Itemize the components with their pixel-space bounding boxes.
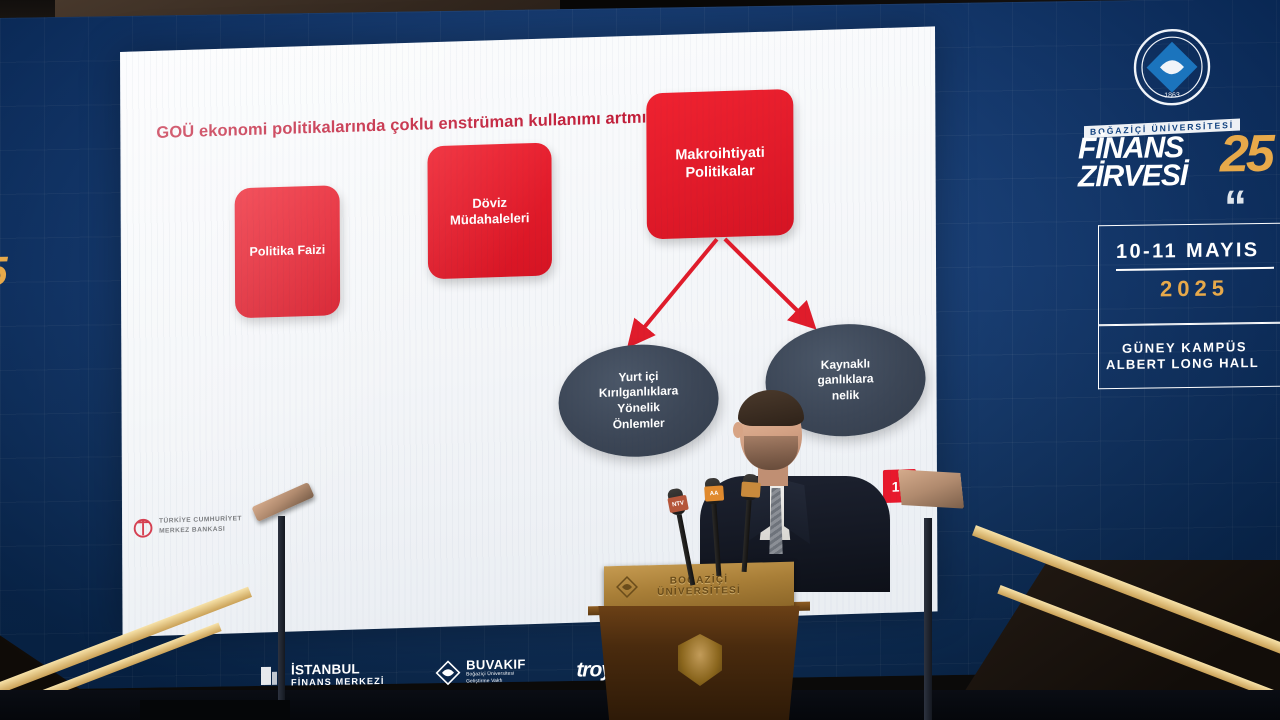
stage-light-left (252, 494, 314, 510)
sponsor2-sub2: Geliştirme Vakfı (466, 678, 526, 686)
banner-right-number: 25 (1220, 131, 1272, 179)
buvakif-mark-icon (435, 660, 461, 686)
slide-oval-2-line2: ganlıklara (817, 372, 873, 388)
banner-right-date-box (1098, 222, 1280, 325)
microphone-3-stem (742, 500, 752, 572)
arrow-to-external (725, 236, 805, 321)
banner-left-number: 25 (0, 248, 6, 296)
slide-oval-1-line2: Kırılganlıklara (599, 384, 678, 400)
ifm-text: İSTANBUL FİNANS MERKEZİ (291, 662, 385, 687)
stage-light-right-head (898, 463, 964, 515)
banner-left-cropped: İVERSİTESİ S 25 ZLİK NDA AL ÜM (0, 149, 60, 511)
seal-year-text: 1863 (1164, 92, 1180, 99)
banner-right-dates: 10-11 MAYIS (1116, 239, 1260, 264)
banner-right-title-line2: ZİRVESİ (1078, 162, 1187, 191)
microphone-3 (739, 474, 757, 573)
conference-stage-scene: İVERSİTESİ S 25 ZLİK NDA AL ÜM 1863 BOĞA… (0, 0, 1280, 720)
banner-right-venue-line1: GÜNEY KAMPÜS (1122, 339, 1247, 356)
microphone-1-stem (677, 514, 696, 586)
microphone-1: NTV (669, 488, 698, 586)
microphone-3-flag (741, 482, 761, 498)
banner-right-event: 1863 BOĞAZİÇİ ÜNİVERSİTESİ FİNANS ZİRVES… (1072, 20, 1280, 423)
stage-light-right-pole (924, 518, 932, 720)
bogazici-seal-icon-right: 1863 (1132, 27, 1212, 108)
microphone-1-flag: NTV (667, 495, 689, 513)
banner-right-venue-line2: ALBERT LONG HALL (1106, 355, 1259, 372)
speaker-ear (733, 422, 743, 438)
arrow-to-domestic (637, 239, 717, 336)
slide-oval-2-line1: Kaynaklı (821, 356, 870, 372)
microphone-2: AA (707, 478, 725, 577)
slide-box-2-label: Döviz Müdahaleleri (450, 194, 530, 228)
slide-box-3-line2: Politikalar (685, 163, 754, 181)
microphone-2-stem (711, 504, 721, 576)
buvakif-text: BUVAKIF Boğaziçi Üniversitesi Geliştirme… (466, 658, 526, 686)
tcmb-logo: TÜRKİYE CUMHURİYET MERKEZ BANKASI (132, 513, 242, 538)
slide-oval-1-line3: Yönelik (617, 400, 660, 415)
slide-box-3-label: Makroihtiyati Politikalar (675, 145, 765, 183)
banner-right-year: 2025 (1160, 275, 1229, 302)
slide-box-3-line1: Makroihtiyati (675, 145, 765, 164)
sponsor-buvakif: BUVAKIF Boğaziçi Üniversitesi Geliştirme… (435, 658, 526, 687)
quote-mark-icon: “ (1224, 193, 1245, 221)
foreground-obstruction (140, 700, 290, 720)
slide-box-2-line1: Döviz (472, 194, 507, 210)
slide-box-macroprudential: Makroihtiyati Politikalar (646, 89, 794, 240)
speaker-hair (738, 390, 804, 426)
slide-box-1-label: Politika Faizi (250, 243, 326, 261)
slide-oval-1-line4: Önlemler (613, 415, 665, 431)
tcmb-logo-text: TÜRKİYE CUMHURİYET MERKEZ BANKASI (159, 515, 242, 537)
podium-line2: ÜNİVERSİTESİ (657, 585, 741, 599)
slide-oval-domestic-fragilities: Yurt içi Kırılganlıklara Yönelik Önlemle… (558, 342, 718, 459)
slide-oval-1-label: Yurt içi Kırılganlıklara Yönelik Önlemle… (599, 368, 679, 433)
slide-box-policy-rate: Politika Faizi (235, 185, 341, 318)
podium-bogazici-mark-icon (616, 576, 638, 598)
microphone-cluster: NTV AA (660, 474, 790, 584)
slide-oval-1-line1: Yurt içi (618, 369, 658, 384)
tcmb-line2: MERKEZ BANKASI (159, 524, 242, 536)
stage-light-right (900, 466, 962, 512)
sponsor1-sub: FİNANS MERKEZİ (291, 676, 385, 688)
slide-box-2-line2: Müdahaleleri (450, 210, 530, 227)
microphone-2-flag: AA (704, 485, 724, 501)
tcmb-mark-icon (132, 516, 154, 539)
stage-light-left-pole (278, 516, 285, 716)
slide-box-fx-interventions: Döviz Müdahaleleri (427, 142, 552, 279)
sponsor2-name: BUVAKIF (466, 658, 526, 673)
